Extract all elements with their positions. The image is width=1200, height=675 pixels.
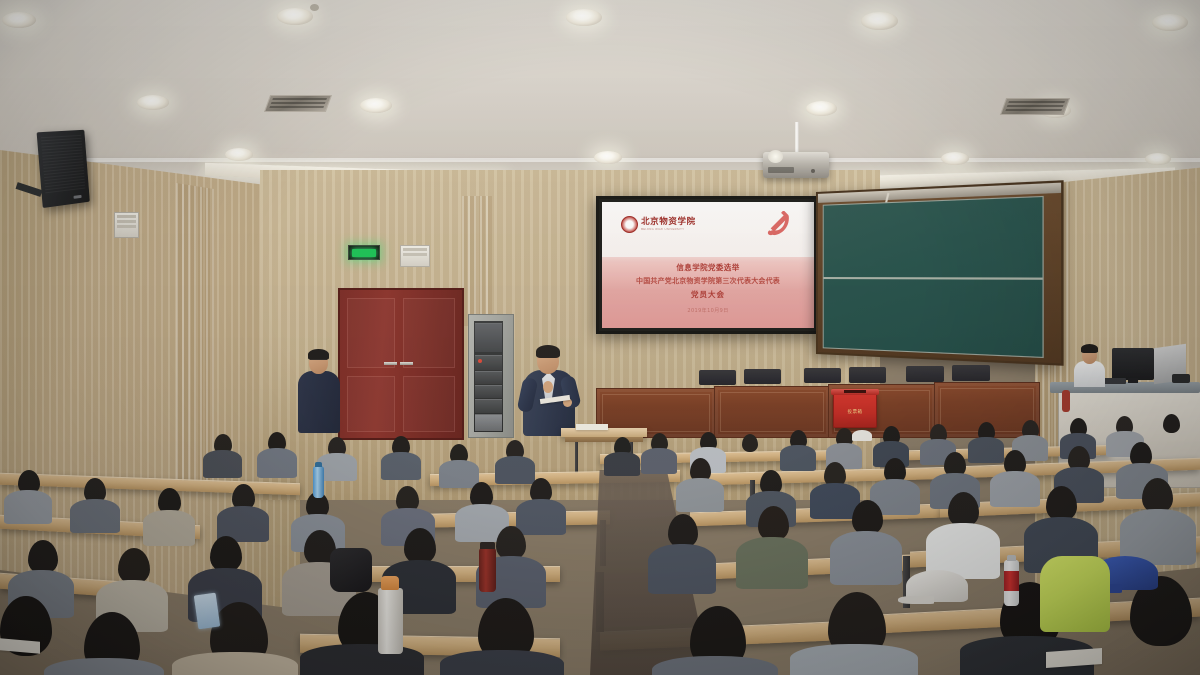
audience-head [28, 540, 58, 574]
audience-head [852, 500, 883, 535]
downlight-icon [1145, 153, 1171, 165]
door-handle-left[interactable] [384, 362, 397, 365]
cola-label [1004, 571, 1019, 591]
audience-body [968, 437, 1004, 463]
door-handle-right[interactable] [400, 362, 413, 365]
downlight-icon [1152, 14, 1188, 31]
double-door[interactable] [338, 288, 464, 440]
blackboard [816, 180, 1064, 366]
smartphone[interactable] [194, 593, 221, 630]
university-seal-icon [621, 216, 638, 233]
stage-seat-back [744, 369, 781, 384]
table-documents [576, 424, 608, 430]
downlight-icon [277, 8, 313, 25]
projection-screen: 北京物资学院 BEIJING WUZI UNIVERSITY 信息学院党委选举 … [596, 196, 820, 334]
audience-body [439, 460, 479, 488]
projector-lens-icon [768, 150, 783, 163]
desk-phone[interactable] [1172, 374, 1190, 383]
downlight-icon [360, 98, 392, 113]
audience-head [1142, 478, 1173, 513]
downlight-icon [2, 12, 36, 28]
downlight-icon [861, 12, 898, 30]
audience-head [668, 514, 698, 548]
audience-body [70, 499, 120, 533]
rack-unit[interactable] [475, 385, 502, 398]
wall-slat-column [462, 196, 492, 326]
audience-head [1046, 486, 1077, 521]
red-cola-bottle[interactable] [1004, 560, 1019, 606]
audience-head [1163, 414, 1180, 433]
audience-body [495, 456, 535, 484]
speaker-badge [73, 195, 81, 199]
audience-head [742, 434, 758, 452]
cable-bundle [1062, 390, 1070, 412]
audience-head [758, 506, 789, 541]
downlight-icon [941, 152, 969, 165]
audience-body [736, 537, 808, 589]
audience-head [210, 536, 242, 572]
downlight-icon [806, 101, 837, 116]
blackboard-divider [824, 277, 1043, 280]
podium-operator-hair [1081, 344, 1098, 353]
presenter-raised-hand [543, 381, 553, 393]
audience-body [641, 448, 677, 474]
stage-seat-back [699, 370, 736, 385]
downlight-icon [225, 148, 253, 161]
wall-panel-box[interactable] [400, 245, 430, 267]
audience-body-foreground [652, 656, 778, 675]
slide-text-block: 信息学院党委选举 中国共产党北京物资学院第三次代表大会代表 党员大会 2019年… [602, 257, 814, 328]
ballot-box-label: 投票箱 [834, 409, 876, 415]
audience-body-foreground [172, 652, 298, 675]
speaker-grille-icon [41, 135, 85, 193]
rack-unit[interactable] [475, 399, 502, 413]
standing-attendant-body [298, 371, 340, 433]
audience-head [118, 548, 150, 584]
audience-body-foreground [44, 658, 164, 675]
hammer-and-sickle-icon [761, 211, 795, 241]
air-vent [264, 95, 332, 112]
white-cap [852, 430, 872, 441]
audience-body [257, 448, 297, 478]
presentation-slide: 北京物资学院 BEIJING WUZI UNIVERSITY 信息学院党委选举 … [602, 202, 814, 328]
door-panel-lower-right [403, 376, 455, 432]
audience-body [780, 445, 816, 471]
podium-operator-body [1074, 361, 1105, 387]
wall-control-box[interactable] [114, 212, 139, 238]
blue-water-bottle[interactable] [313, 466, 324, 498]
white-water-bottle[interactable] [378, 588, 403, 654]
stage-front-panel-center [714, 386, 830, 438]
lecture-hall-photo: 北京物资学院 BEIJING WUZI UNIVERSITY 信息学院党委选举 … [0, 0, 1200, 675]
audience-body [648, 544, 716, 594]
presenter-hair [536, 345, 560, 358]
desk-paper [0, 638, 40, 653]
red-thermos[interactable] [479, 548, 496, 592]
monitor[interactable] [1112, 348, 1154, 380]
stage-seat-back [804, 368, 841, 383]
audience-body-foreground [790, 644, 918, 675]
audience-head [496, 526, 526, 560]
glasses-icon [310, 359, 327, 363]
air-vent [1000, 98, 1070, 115]
rack-unit[interactable] [475, 323, 502, 352]
exit-sign [348, 245, 380, 260]
door-panel-upper-right [403, 298, 455, 368]
av-equipment-rack[interactable] [468, 314, 514, 438]
downlight-icon [566, 9, 602, 26]
ceiling-sprinkler-icon [310, 4, 319, 11]
audience-body-foreground [440, 650, 564, 675]
stage-seat-back [952, 365, 990, 381]
lime-green-jacket [1040, 556, 1110, 632]
slide-date: 2019年10月9日 [602, 307, 814, 314]
logo-name-cn: 北京物资学院 [641, 218, 696, 227]
projector-indicator [811, 169, 815, 173]
rack-unit[interactable] [475, 414, 502, 431]
audience-body [830, 531, 902, 585]
door-panel-upper-left [347, 298, 395, 368]
wall-speaker [37, 130, 90, 208]
audience-body [604, 452, 640, 476]
projector-vent [768, 167, 794, 173]
university-logo: 北京物资学院 BEIJING WUZI UNIVERSITY [621, 216, 696, 233]
bottle-cap [315, 462, 322, 467]
slide-line-1: 信息学院党委选举 [602, 262, 814, 273]
rack-unit[interactable] [475, 371, 502, 384]
audience-body-foreground [300, 644, 424, 675]
ballot-box[interactable]: 投票箱 [833, 392, 877, 428]
audience-body [203, 450, 242, 478]
bottle-cap-orange [381, 576, 399, 590]
rack-power-led [478, 359, 482, 363]
stage-seat-back [906, 366, 944, 382]
ballot-box-lid [831, 389, 879, 395]
exit-sign-icon [352, 249, 376, 257]
audience-body [143, 510, 195, 546]
slide-line-2: 中国共产党北京物资学院第三次代表大会代表 [602, 276, 814, 286]
audience-body [990, 471, 1040, 507]
logo-name-en: BEIJING WUZI UNIVERSITY [641, 227, 696, 231]
stage-seat-back [849, 367, 886, 383]
bottle-cap [1007, 555, 1016, 561]
audience-body [676, 478, 724, 512]
audience-head [948, 492, 979, 527]
ballot-slot [844, 390, 865, 393]
audience-body [516, 499, 566, 535]
audience-body [381, 452, 421, 480]
projector-mount-pole [795, 122, 799, 154]
white-cap-brim [898, 596, 934, 604]
wall-slat-column [176, 183, 214, 489]
backpack [330, 548, 372, 592]
slide-line-3: 党员大会 [602, 289, 814, 300]
thermos-cap [480, 542, 495, 549]
rack-front-panel [474, 321, 503, 432]
door-panel-lower-left [347, 376, 395, 432]
audience-head [404, 528, 436, 564]
downlight-icon [594, 151, 622, 164]
monitor-stand [1128, 378, 1138, 383]
blackboard-surface [823, 196, 1044, 358]
audience-body [4, 490, 52, 524]
downlight-icon [137, 95, 169, 110]
